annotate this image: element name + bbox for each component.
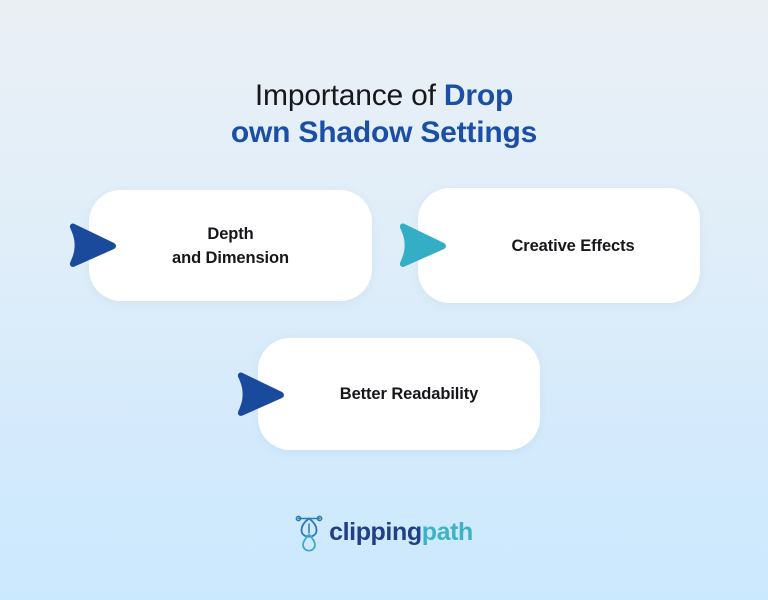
card-creative-effects[interactable]: Creative Effects [418,188,700,303]
card-label: Creative Effects [511,234,634,258]
infographic-canvas: Importance of Dropown Shadow Settings De… [0,0,768,600]
brand-logo-text-secondary: path [422,518,473,546]
page-title: Importance of Dropown Shadow Settings [0,77,768,151]
arrow-right-icon-creative [396,222,448,268]
card-label: Depth and Dimension [172,222,289,270]
brand-logo[interactable]: clippingpath [0,512,768,552]
page-title-accent-line2: own Shadow Settings [231,116,537,149]
brand-logo-text: clippingpath [329,517,473,547]
page-title-accent-line1: Drop [444,79,513,112]
card-depth-and-dimension[interactable]: Depth and Dimension [89,190,372,301]
card-label: Better Readability [340,382,479,406]
card-better-readability[interactable]: Better Readability [258,338,540,450]
pen-nib-anchor-point-icon [295,512,323,552]
page-title-plain: Importance of [255,79,444,112]
brand-logo-text-primary: clipping [329,518,422,546]
arrow-right-icon-depth [66,222,118,268]
arrow-right-icon-readability [234,371,286,417]
